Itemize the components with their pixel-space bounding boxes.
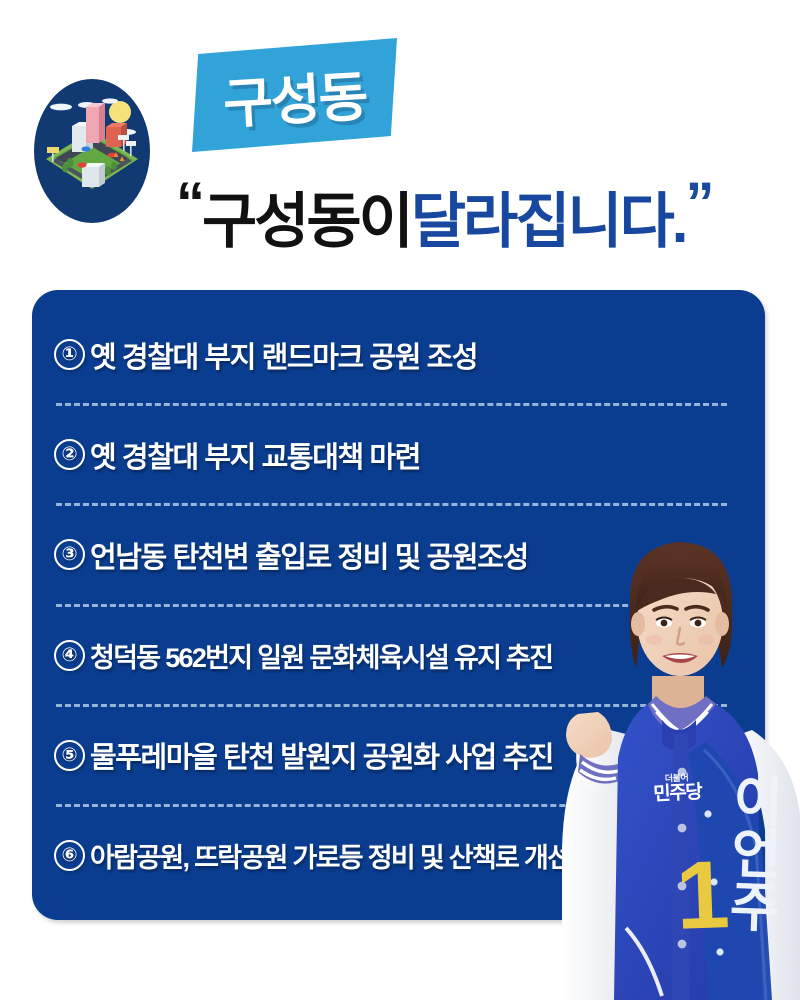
isometric-city-icon	[34, 79, 150, 223]
district-tag: 구성동	[192, 38, 397, 152]
pledge-text: 옛 경찰대 부지 교통대책 마련	[90, 434, 420, 476]
candidate-photo: 더불어 민주당 1 이 언 주	[556, 528, 800, 1000]
headline-part-blue: 달라집니다.	[411, 173, 686, 260]
pledge-number: ③	[54, 539, 85, 570]
pledge-text: 언남동 탄천변 출입로 정비 및 공원조성	[90, 534, 528, 576]
list-item: ② 옛 경찰대 부지 교통대책 마련	[32, 406, 765, 503]
pledge-number: ①	[54, 339, 85, 370]
poster-header: 구성동 “ 구성동이 달라집니다. ”	[0, 0, 800, 280]
pledge-number: ④	[54, 640, 85, 671]
page-title: “ 구성동이 달라집니다. ”	[176, 168, 776, 264]
open-quote-icon: “	[176, 187, 202, 222]
pledge-number: ②	[54, 439, 85, 470]
headline-part-dark: 구성동이	[202, 173, 411, 260]
close-quote-icon: ”	[685, 187, 711, 222]
pledge-number: ⑥	[54, 840, 85, 871]
pledge-number: ⑤	[54, 740, 85, 771]
pledge-text: 옛 경찰대 부지 랜드마크 공원 조성	[90, 334, 477, 376]
pledge-text: 청덕동 562번지 일원 문화체육시설 유지 추진	[90, 636, 552, 675]
list-item: ① 옛 경찰대 부지 랜드마크 공원 조성	[32, 306, 765, 403]
district-tag-label: 구성동	[189, 32, 400, 157]
pledge-text: 물푸레마을 탄천 발원지 공원화 사업 추진	[90, 734, 553, 776]
